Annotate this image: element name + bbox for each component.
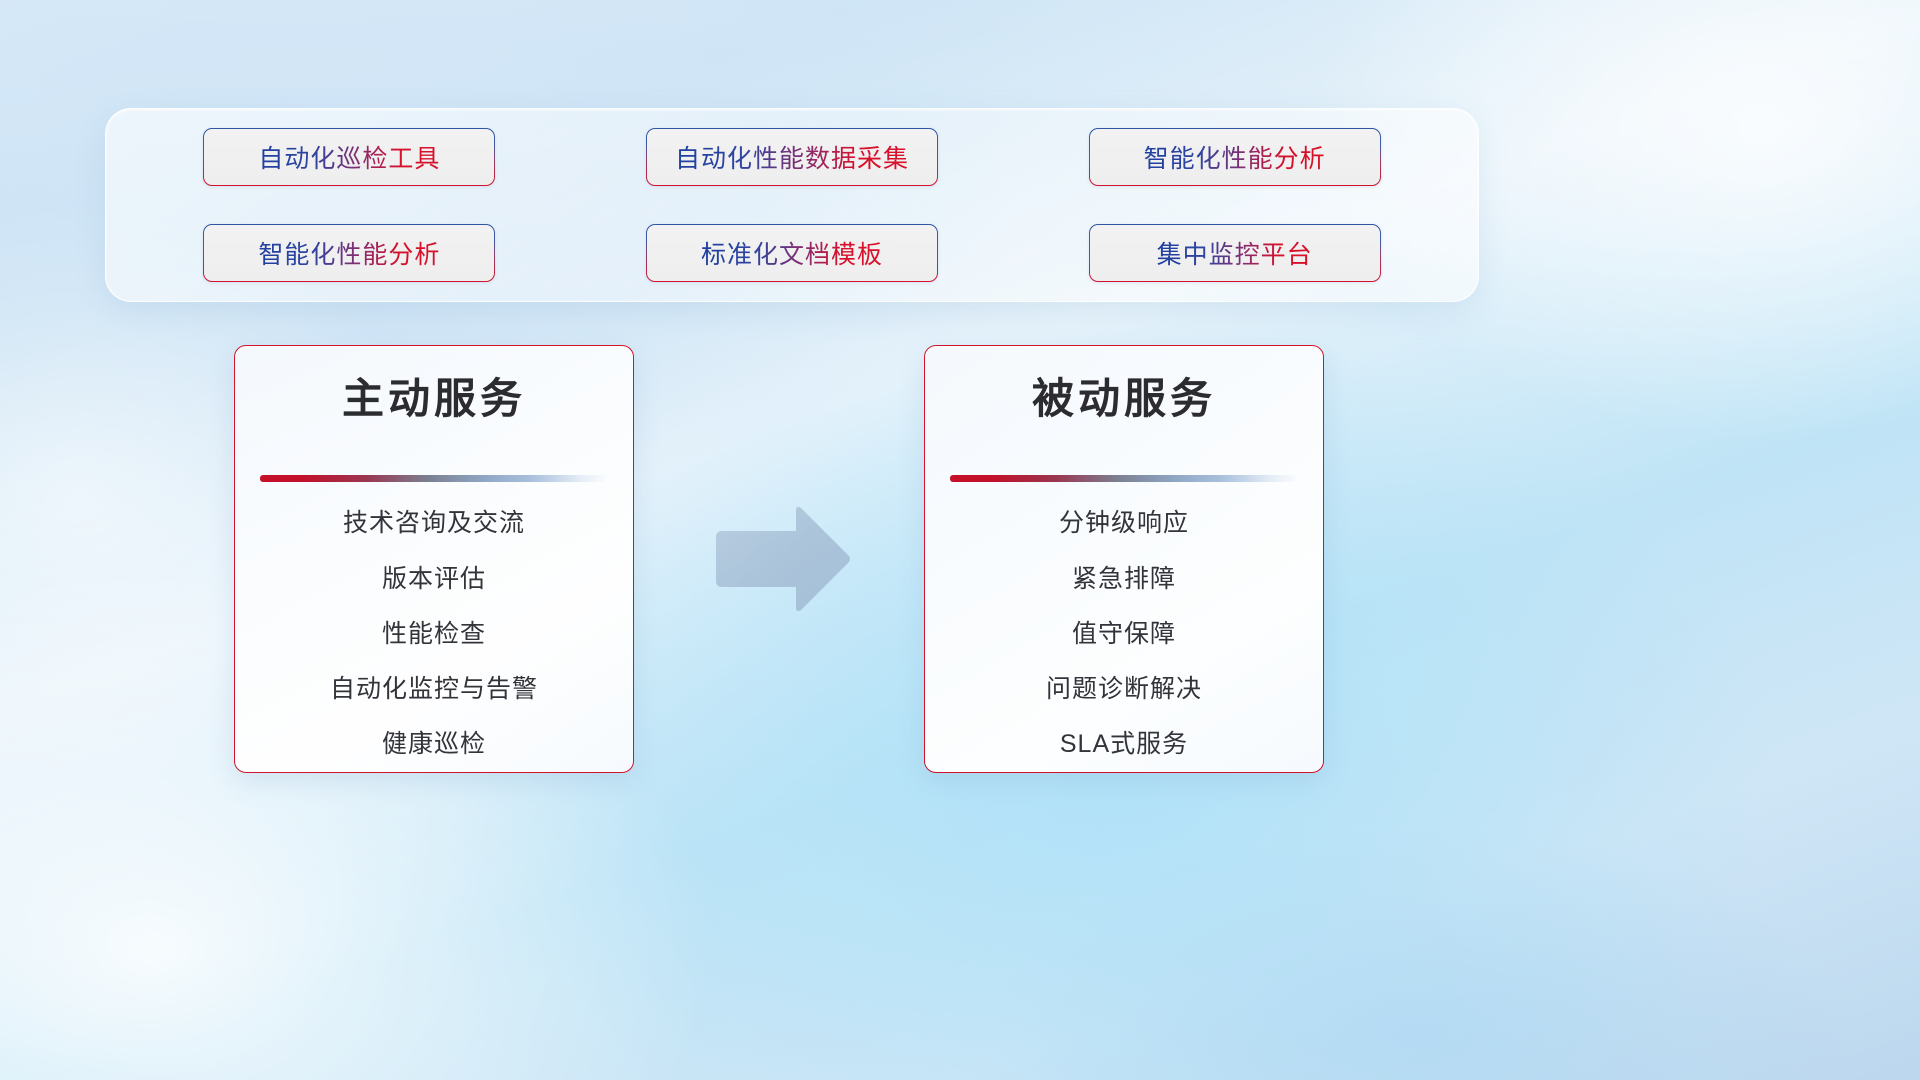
capability-panel: 自动化巡检工具 自动化性能数据采集 智能化性能分析 智能化性能分析 标准化文档模… [105, 108, 1479, 302]
capability-pill-label: 集中监控平台 [1157, 235, 1313, 271]
capability-pill[interactable]: 智能化性能分析 [1089, 128, 1381, 186]
service-item-list: 技术咨询及交流 版本评估 性能检查 自动化监控与告警 健康巡检 [235, 482, 633, 760]
capability-pill[interactable]: 自动化性能数据采集 [646, 128, 938, 186]
capability-pill[interactable]: 自动化巡检工具 [203, 128, 495, 186]
service-item: 问题诊断解决 [1046, 674, 1202, 705]
service-card-active: 主动服务 技术咨询及交流 版本评估 性能检查 自动化监控与告警 健康巡检 [234, 345, 634, 773]
capability-pill[interactable]: 智能化性能分析 [203, 224, 495, 282]
service-item: 技术咨询及交流 [343, 508, 525, 539]
service-item: 分钟级响应 [1059, 508, 1189, 539]
service-item: 自动化监控与告警 [330, 674, 538, 705]
capability-pill-label: 智能化性能分析 [1144, 139, 1326, 175]
flow-arrow-right-icon [712, 505, 852, 613]
service-item-list: 分钟级响应 紧急排障 值守保障 问题诊断解决 SLA式服务 [925, 482, 1323, 760]
capability-pill-label: 自动化性能数据采集 [675, 139, 909, 175]
capability-pill-label: 智能化性能分析 [258, 235, 440, 271]
card-title: 被动服务 [1032, 374, 1216, 424]
card-title-underline [950, 475, 1298, 482]
service-item: 健康巡检 [382, 729, 486, 760]
service-item: 版本评估 [382, 564, 486, 595]
capability-pill-label: 标准化文档模板 [701, 235, 883, 271]
card-title: 主动服务 [342, 374, 526, 424]
service-card-passive: 被动服务 分钟级响应 紧急排障 值守保障 问题诊断解决 SLA式服务 [924, 345, 1324, 773]
service-item: 值守保障 [1072, 619, 1176, 650]
service-item: SLA式服务 [1060, 729, 1188, 760]
capability-pill[interactable]: 集中监控平台 [1089, 224, 1381, 282]
service-item: 性能检查 [382, 619, 486, 650]
card-title-underline [260, 475, 608, 482]
capability-pill[interactable]: 标准化文档模板 [646, 224, 938, 282]
service-item: 紧急排障 [1072, 564, 1176, 595]
capability-pill-label: 自动化巡检工具 [258, 139, 440, 175]
